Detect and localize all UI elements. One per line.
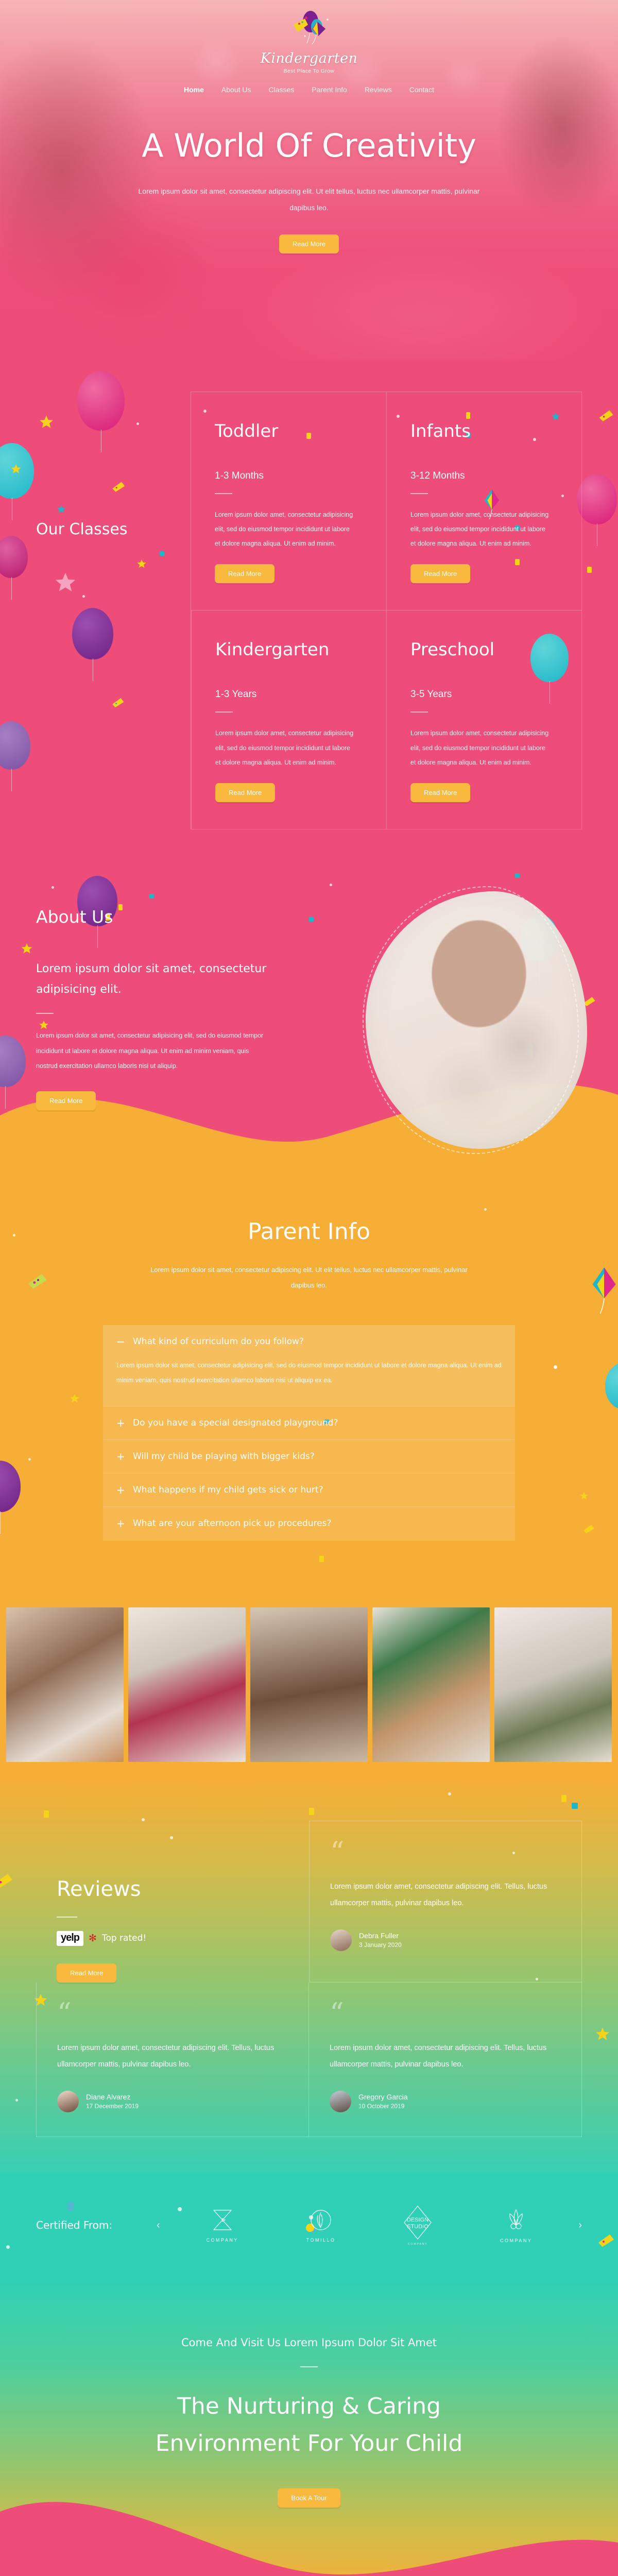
class-card-preschool[interactable]: Preschool 3-5 Years Lorem ipsum dolor am… xyxy=(386,610,581,828)
class-title: Infants xyxy=(410,421,558,442)
faq-item-bigger-kids[interactable]: + Will my child be playing with bigger k… xyxy=(103,1440,515,1473)
class-description: Lorem ipsum dolor amet, consectetur adip… xyxy=(410,507,550,551)
class-read-more-button[interactable]: Read More xyxy=(410,564,470,583)
certifier-subtitle: COMPANY xyxy=(403,2243,432,2246)
review-card: “ Lorem ipsum dolor amet, consectetur ad… xyxy=(36,1982,309,2137)
hero-subtitle: Lorem ipsum dolor sit amet, consectetur … xyxy=(134,183,484,216)
brand-tagline: Best Place To Grow xyxy=(0,69,618,74)
class-card-kindergarten[interactable]: Kindergarten 1-3 Years Lorem ipsum dolor… xyxy=(191,610,386,828)
plus-icon: + xyxy=(116,1518,125,1529)
certifier-logo-tomillo[interactable]: TOMILLO xyxy=(306,2208,336,2243)
bowtie-mark-icon xyxy=(212,2208,233,2232)
reviews-read-more-button[interactable]: Read More xyxy=(57,1963,116,1982)
photo-gallery xyxy=(0,1602,618,1780)
reviews-section: Reviews yelp ✻ Top rated! Read More “ Lo… xyxy=(0,1780,618,2173)
yelp-rating[interactable]: yelp ✻ Top rated! xyxy=(57,1931,309,1946)
class-title: Preschool xyxy=(410,639,558,660)
hero-read-more-button[interactable]: Read More xyxy=(279,234,339,253)
certifier-logo-company-bowtie[interactable]: COMPANY xyxy=(207,2208,238,2243)
certified-label: Certified From: xyxy=(36,2219,144,2231)
about-lead-text: Lorem ipsum dolor sit amet, consectetur … xyxy=(36,959,324,1001)
nav-item-about-us[interactable]: About Us xyxy=(221,86,251,94)
parent-info-subtitle: Lorem ipsum dolor sit amet, consectetur … xyxy=(149,1262,469,1293)
faq-item-playground[interactable]: + Do you have a special designated playg… xyxy=(103,1406,515,1440)
minus-icon: − xyxy=(116,1336,125,1347)
gallery-image[interactable] xyxy=(128,1607,246,1762)
brand[interactable]: Kindergarten Best Place To Grow xyxy=(0,0,618,74)
diamond-mark-icon: DESIGN STUDIO xyxy=(403,2205,432,2240)
certifier-logos: COMPANY TOMILLO DESIGN STUDIO xyxy=(173,2205,566,2246)
nav-item-classes[interactable]: Classes xyxy=(269,86,295,94)
faq-question-row[interactable]: + Will my child be playing with bigger k… xyxy=(103,1440,515,1473)
class-description: Lorem ipsum dolor amet, consectetur adip… xyxy=(215,726,354,769)
divider xyxy=(57,1917,77,1918)
divider xyxy=(410,493,428,494)
reviews-heading: Reviews xyxy=(57,1877,309,1901)
faq-question: What happens if my child gets sick or hu… xyxy=(133,1485,323,1495)
yelp-burst-icon: ✻ xyxy=(89,1933,97,1944)
gallery-image[interactable] xyxy=(372,1607,490,1762)
review-date: 10 October 2019 xyxy=(358,2103,408,2110)
class-age: 3-12 Months xyxy=(410,470,558,482)
gallery-image[interactable] xyxy=(494,1607,612,1762)
wheat-circle-mark-icon xyxy=(310,2208,332,2232)
class-description: Lorem ipsum dolor amet, consectetur adip… xyxy=(410,726,550,769)
certifier-name: COMPANY xyxy=(500,2238,532,2243)
plus-icon: + xyxy=(116,1485,125,1495)
avatar xyxy=(57,2091,79,2112)
classes-section-label: Our Classes xyxy=(36,392,191,829)
main-navigation[interactable]: Home About Us Classes Parent Info Review… xyxy=(0,86,618,94)
review-text: Lorem ipsum dolor amet, consectetur adip… xyxy=(330,1879,561,1912)
class-description: Lorem ipsum dolor amet, consectetur adip… xyxy=(215,507,354,551)
review-text: Lorem ipsum dolor amet, consectetur adip… xyxy=(330,2040,561,2073)
review-date: 3 January 2020 xyxy=(359,1941,402,1948)
quote-icon: “ xyxy=(330,2005,561,2022)
class-read-more-button[interactable]: Read More xyxy=(410,783,470,802)
faq-item-sick-or-hurt[interactable]: + What happens if my child gets sick or … xyxy=(103,1473,515,1507)
svg-text:DESIGN: DESIGN xyxy=(407,2217,428,2223)
about-read-more-button[interactable]: Read More xyxy=(36,1091,96,1110)
hero-section: Kindergarten Best Place To Grow Home Abo… xyxy=(0,0,618,361)
parent-info-section: Parent Info Lorem ipsum dolor sit amet, … xyxy=(0,1172,618,1602)
faq-question-row[interactable]: + What happens if my child gets sick or … xyxy=(103,1473,515,1506)
class-title: Kindergarten xyxy=(215,639,363,660)
class-age: 1-3 Years xyxy=(215,689,363,700)
gallery-image[interactable] xyxy=(6,1607,124,1762)
review-author: Debra Fuller xyxy=(359,1931,402,1940)
faq-item-curriculum[interactable]: − What kind of curriculum do you follow?… xyxy=(103,1325,515,1406)
faq-question: What kind of curriculum do you follow? xyxy=(133,1336,304,1347)
gallery-image[interactable] xyxy=(250,1607,368,1762)
divider xyxy=(215,493,232,494)
cta-subtitle: Come And Visit Us Lorem Ipsum Dolor Sit … xyxy=(0,2336,618,2349)
class-read-more-button[interactable]: Read More xyxy=(215,783,275,802)
hero-title: A World Of Creativity xyxy=(0,129,618,162)
faq-answer: Lorem ipsum dolor sit amet, consectetur … xyxy=(103,1358,515,1406)
avatar xyxy=(330,2091,351,2112)
review-date: 17 December 2019 xyxy=(86,2103,139,2110)
nav-item-home[interactable]: Home xyxy=(184,86,204,94)
class-age: 3-5 Years xyxy=(410,689,558,700)
review-author: Diane Alvarez xyxy=(86,2093,139,2101)
lotus-mark-icon xyxy=(504,2208,528,2232)
certified-from-section: Certified From: ‹ COMPANY xyxy=(0,2173,618,2280)
faq-accordion: − What kind of curriculum do you follow?… xyxy=(103,1325,515,1540)
nav-item-contact[interactable]: Contact xyxy=(409,86,434,94)
brand-name: Kindergarten xyxy=(0,50,618,66)
faq-question: Do you have a special designated playgro… xyxy=(133,1418,338,1428)
svg-text:STUDIO: STUDIO xyxy=(407,2224,429,2230)
yelp-logo: yelp xyxy=(57,1931,83,1946)
quote-icon: “ xyxy=(57,2005,288,2022)
landing-page: Kindergarten Best Place To Grow Home Abo… xyxy=(0,0,618,2576)
yelp-top-rated-label: Top rated! xyxy=(102,1933,146,1943)
chevron-right-icon[interactable]: › xyxy=(578,2219,582,2231)
review-card: “ Lorem ipsum dolor amet, consectetur ad… xyxy=(309,1982,582,2137)
book-a-tour-button[interactable]: Book A Tour xyxy=(278,2488,340,2507)
classes-grid: Toddler 1-3 Months Lorem ipsum dolor ame… xyxy=(191,392,582,829)
plus-icon: + xyxy=(116,1451,125,1462)
certifier-name: COMPANY xyxy=(207,2238,238,2243)
divider xyxy=(410,711,428,713)
nav-item-parent-info[interactable]: Parent Info xyxy=(312,86,347,94)
class-read-more-button[interactable]: Read More xyxy=(215,564,274,583)
brand-logo-icon xyxy=(0,9,618,48)
certifier-name: TOMILLO xyxy=(306,2238,336,2243)
cta-headline-line1: The Nurturing & Caring xyxy=(177,2393,441,2419)
faq-item-pickup[interactable]: + What are your afternoon pick up proced… xyxy=(103,1507,515,1540)
cta-section: Come And Visit Us Lorem Ipsum Dolor Sit … xyxy=(0,2280,618,2576)
class-card-toddler[interactable]: Toddler 1-3 Months Lorem ipsum dolor ame… xyxy=(191,392,386,610)
classes-section: Our Classes Toddler 1-3 Months Lorem ips… xyxy=(0,361,618,866)
faq-question: What are your afternoon pick up procedur… xyxy=(133,1518,331,1529)
about-body-text: Lorem ipsum dolor sit amet, consectetur … xyxy=(36,1028,268,1074)
about-dashed-outline xyxy=(363,886,579,1154)
review-text: Lorem ipsum dolor amet, consectetur adip… xyxy=(57,2040,288,2073)
review-author: Gregory Garcia xyxy=(358,2093,408,2101)
faq-question: Will my child be playing with bigger kid… xyxy=(133,1451,315,1462)
class-title: Toddler xyxy=(215,421,363,442)
divider xyxy=(215,711,233,713)
faq-question-row[interactable]: + What are your afternoon pick up proced… xyxy=(103,1507,515,1540)
faq-question-row[interactable]: − What kind of curriculum do you follow? xyxy=(103,1325,515,1358)
chevron-left-icon[interactable]: ‹ xyxy=(157,2219,160,2231)
about-section: About Us Lorem ipsum dolor sit amet, con… xyxy=(0,866,618,1173)
nav-item-reviews[interactable]: Reviews xyxy=(365,86,392,94)
cta-headline-line2: Environment For Your Child xyxy=(156,2430,463,2456)
plus-icon: + xyxy=(116,1418,125,1428)
faq-question-row[interactable]: + Do you have a special designated playg… xyxy=(103,1406,515,1439)
review-card: “ Lorem ipsum dolor amet, consectetur ad… xyxy=(309,1821,582,1982)
quote-icon: “ xyxy=(330,1844,561,1860)
certifier-logo-design-studio[interactable]: DESIGN STUDIO COMPANY xyxy=(403,2205,432,2246)
class-age: 1-3 Months xyxy=(215,470,363,482)
avatar xyxy=(330,1929,352,1951)
divider xyxy=(36,1013,54,1014)
class-card-infants[interactable]: Infants 3-12 Months Lorem ipsum dolor am… xyxy=(386,392,581,610)
divider xyxy=(300,2366,318,2367)
about-heading: About Us xyxy=(36,907,324,927)
certifier-logo-lotus[interactable]: COMPANY xyxy=(500,2208,532,2243)
parent-info-heading: Parent Info xyxy=(36,1218,582,1245)
